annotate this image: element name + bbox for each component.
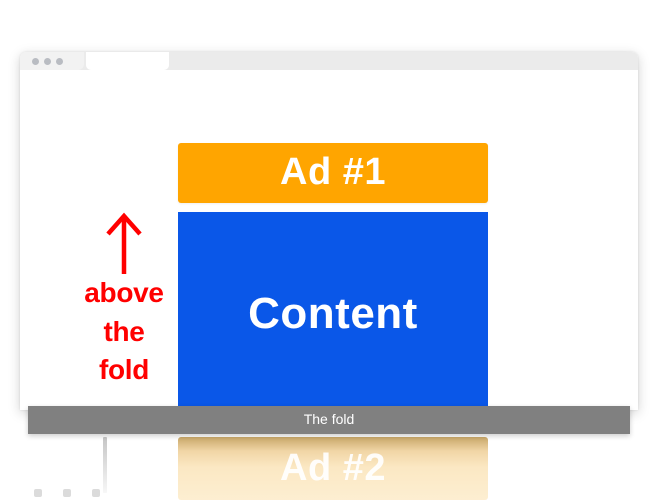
annotation-text-block: above the fold <box>68 274 180 390</box>
window-dot-3-reflection <box>92 489 100 497</box>
window-dot-1-icon[interactable] <box>32 58 39 65</box>
ad-block-bottom-label: Ad #2 <box>178 449 488 487</box>
browser-chrome-bar <box>20 52 638 70</box>
content-block[interactable]: Content <box>178 212 488 410</box>
annotation-line-reflection <box>103 437 107 493</box>
content-block-label: Content <box>178 292 488 336</box>
window-dot-3-icon[interactable] <box>56 58 63 65</box>
ad-block-top[interactable]: Ad #1 <box>178 143 488 203</box>
illustration-canvas: Ad #2 Ad #1 Content <box>0 0 660 500</box>
up-arrow-icon <box>104 212 144 274</box>
fold-bar-label: The fold <box>28 412 630 426</box>
browser-window: Ad #1 Content above the fold <box>20 52 638 410</box>
fold-bar: The fold <box>28 406 630 434</box>
above-the-fold-annotation: above the fold <box>68 212 180 410</box>
ad-block-bottom[interactable]: Ad #2 <box>178 437 488 500</box>
annotation-text-line-2: the <box>68 313 180 352</box>
browser-viewport: Ad #1 Content above the fold <box>20 70 638 410</box>
window-dot-2-icon[interactable] <box>44 58 51 65</box>
window-dot-2-reflection <box>63 489 71 497</box>
window-controls-group <box>20 52 84 70</box>
annotation-text-line-3: fold <box>68 351 180 390</box>
window-dot-1-reflection <box>34 489 42 497</box>
annotation-text-line-1: above <box>68 274 180 313</box>
ad-block-top-label: Ad #1 <box>178 153 488 191</box>
browser-tab-active[interactable] <box>86 52 169 70</box>
